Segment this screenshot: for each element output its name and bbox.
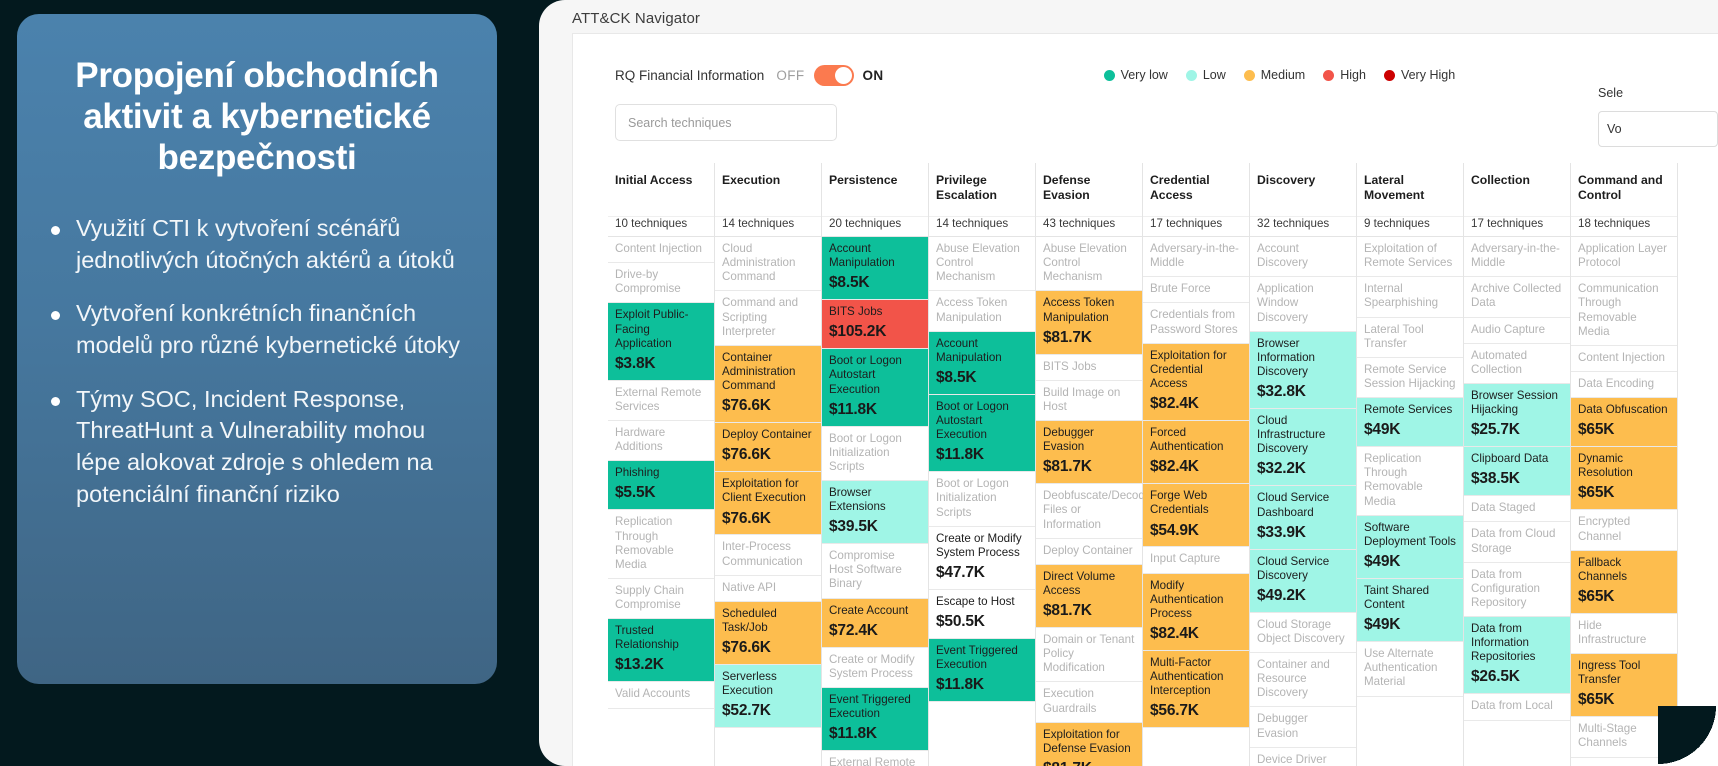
technique-label: Serverless Execution xyxy=(722,670,777,697)
list-item: Využití CTI k vytvoření scénářů jednotli… xyxy=(51,213,471,276)
technique-value: $65K xyxy=(1578,484,1670,503)
presentation-slide: Propojení obchodních aktivit a kyberneti… xyxy=(17,14,497,684)
technique-value: $39.5K xyxy=(829,518,921,537)
technique-label: Browser Session Hijacking xyxy=(1471,389,1558,416)
technique-cell[interactable]: Cloud Administration Command xyxy=(715,237,821,291)
technique-label: Hide Infrastructure xyxy=(1578,619,1646,646)
technique-label: Boot or Logon Autostart Execution xyxy=(936,400,1009,441)
screen: Propojení obchodních aktivit a kyberneti… xyxy=(0,0,1718,766)
technique-cell[interactable]: Build Image on Host xyxy=(1036,381,1142,421)
slide-bullet-list: Využití CTI k vytvoření scénářů jednotli… xyxy=(43,213,471,511)
technique-cell[interactable]: Boot or Logon Autostart Execution$11.8K xyxy=(822,349,928,426)
technique-cell[interactable]: Cloud Storage Object Discovery xyxy=(1250,613,1356,653)
technique-count: 20 techniques xyxy=(822,217,928,237)
toggle-label: RQ Financial Information xyxy=(615,68,764,83)
technique-label: Drive-by Compromise xyxy=(615,268,681,295)
technique-label: Deobfuscate/Decode Files or Information xyxy=(1043,489,1151,530)
technique-cell[interactable]: BITS Jobs xyxy=(1036,355,1142,381)
technique-label: Deploy Container xyxy=(722,428,812,441)
technique-cell[interactable]: Modify Authentication Process$82.4K xyxy=(1143,574,1249,651)
technique-cell[interactable]: Compromise Host Software Binary xyxy=(822,544,928,598)
tactic-column: Initial Access10 techniquesContent Injec… xyxy=(608,163,715,766)
search-placeholder: Search techniques xyxy=(628,116,732,130)
toggle-on-label: ON xyxy=(863,68,884,83)
technique-cell[interactable]: Browser Information Discovery$32.8K xyxy=(1250,332,1356,409)
technique-label: Multi-Factor Authentication Interception xyxy=(1150,656,1223,697)
legend-label: Medium xyxy=(1261,68,1305,82)
technique-cell[interactable]: Remote Services$49K xyxy=(1357,398,1463,447)
technique-value: $8.5K xyxy=(936,369,1028,388)
technique-label: Dynamic Resolution xyxy=(1578,452,1633,479)
technique-cell[interactable]: Deploy Container xyxy=(1036,539,1142,565)
technique-cell[interactable]: Hide Infrastructure xyxy=(1571,614,1677,654)
technique-cell[interactable]: External Remote Services xyxy=(608,381,714,421)
technique-label: Event Triggered Execution xyxy=(829,693,911,720)
technique-label: Domain or Tenant Policy Modification xyxy=(1043,633,1134,674)
technique-cell[interactable]: Hardware Additions xyxy=(608,421,714,461)
technique-cell[interactable]: Account Discovery xyxy=(1250,237,1356,277)
technique-label: Remote Service Session Hijacking xyxy=(1364,363,1456,390)
technique-cell[interactable]: Data Encoding xyxy=(1571,372,1677,398)
technique-cell[interactable]: Cloud Infrastructure Discovery$32.2K xyxy=(1250,409,1356,486)
technique-cell[interactable]: Replication Through Removable Media xyxy=(1357,447,1463,516)
technique-label: Taint Shared Content xyxy=(1364,584,1429,611)
technique-label: Hardware Additions xyxy=(615,426,665,453)
technique-value: $11.8K xyxy=(936,676,1028,695)
bullet-dot-icon xyxy=(51,397,60,406)
technique-value: $81.7K xyxy=(1043,760,1135,766)
technique-label: Create or Modify System Process xyxy=(936,532,1022,559)
technique-label: Debugger Evasion xyxy=(1257,712,1308,739)
technique-count: 14 techniques xyxy=(715,217,821,237)
technique-cell[interactable]: Lateral Tool Transfer xyxy=(1357,318,1463,358)
technique-count: 9 techniques xyxy=(1357,217,1463,237)
technique-value: $5.5K xyxy=(615,484,707,503)
app-title: ATT&CK Navigator xyxy=(539,0,1718,27)
technique-cell[interactable]: Execution Guardrails xyxy=(1036,682,1142,722)
technique-value: $49K xyxy=(1364,553,1456,572)
technique-label: Account Discovery xyxy=(1257,242,1308,269)
technique-label: Exploitation for Client Execution xyxy=(722,477,806,504)
technique-cell[interactable]: Container Administration Command$76.6K xyxy=(715,346,821,423)
technique-label: Encrypted Channel xyxy=(1578,515,1630,542)
technique-value: $65K xyxy=(1578,421,1670,440)
technique-cell[interactable]: Dynamic Resolution$65K xyxy=(1571,447,1677,510)
legend-item-very-high: Very High xyxy=(1384,68,1455,82)
technique-label: Exploitation for Defense Evasion xyxy=(1043,728,1131,755)
technique-cell[interactable]: Deploy Container$76.6K xyxy=(715,423,821,472)
technique-label: Cloud Administration Command xyxy=(722,242,795,283)
technique-value: $52.7K xyxy=(722,702,814,721)
tactic-column: Lateral Movement9 techniquesExploitation… xyxy=(1357,163,1464,766)
technique-count: 43 techniques xyxy=(1036,217,1142,237)
tactic-column-header[interactable]: Command and Control xyxy=(1571,163,1677,217)
technique-value: $76.6K xyxy=(722,397,814,416)
technique-value: $11.8K xyxy=(829,725,921,744)
technique-cell[interactable]: Forge Web Credentials$54.9K xyxy=(1143,484,1249,547)
technique-label: BITS Jobs xyxy=(1043,360,1096,373)
technique-cell[interactable]: Clipboard Data$38.5K xyxy=(1464,447,1570,496)
legend-label: Low xyxy=(1203,68,1226,82)
technique-label: Exploit Public-Facing Application xyxy=(615,308,688,349)
technique-label: Browser Extensions xyxy=(829,486,886,513)
technique-label: Application Layer Protocol xyxy=(1578,242,1667,269)
tactic-column: Collection17 techniquesAdversary-in-the-… xyxy=(1464,163,1571,766)
technique-cell[interactable]: Adversary-in-the-Middle xyxy=(1143,237,1249,277)
technique-value: $3.8K xyxy=(615,355,707,374)
technique-label: External Remote Services xyxy=(615,386,701,413)
technique-cell[interactable]: Automated Collection xyxy=(1464,344,1570,384)
technique-label: Inter-Process Communication xyxy=(722,540,803,567)
technique-label: Command and Scripting Interpreter xyxy=(722,296,798,337)
technique-value: $49K xyxy=(1364,616,1456,635)
toolbar: RQ Financial Information OFF ON Very low… xyxy=(573,34,1718,80)
technique-label: Automated Collection xyxy=(1471,349,1527,376)
selection-dropdown[interactable]: Vo xyxy=(1598,111,1718,147)
tactic-column-header[interactable]: Privilege Escalation xyxy=(929,163,1035,217)
technique-cell[interactable]: Access Token Manipulation$81.7K xyxy=(1036,291,1142,354)
technique-value: $32.8K xyxy=(1257,383,1349,402)
technique-label: Exploitation for Credential Access xyxy=(1150,349,1227,390)
technique-value: $76.6K xyxy=(722,639,814,658)
technique-value: $76.6K xyxy=(722,446,814,465)
technique-count: 10 techniques xyxy=(608,217,714,237)
selection-title: Sele xyxy=(1598,86,1718,100)
technique-value: $65K xyxy=(1578,691,1670,710)
technique-label: Container and Resource Discovery xyxy=(1257,658,1330,699)
technique-label: Exploitation of Remote Services xyxy=(1364,242,1452,269)
technique-cell[interactable]: Content Injection xyxy=(608,237,714,263)
technique-label: Input Capture xyxy=(1150,552,1220,565)
technique-value: $25.7K xyxy=(1471,421,1563,440)
technique-cell[interactable]: Encrypted Channel xyxy=(1571,510,1677,550)
search-input[interactable]: Search techniques xyxy=(615,104,837,141)
legend-item-very-low: Very low xyxy=(1104,68,1168,82)
technique-label: Escape to Host xyxy=(936,595,1015,608)
technique-cell[interactable]: Multi-Factor Authentication Interception… xyxy=(1143,651,1249,728)
technique-label: Browser Information Discovery xyxy=(1257,337,1315,378)
technique-label: Internal Spearphishing xyxy=(1364,282,1438,309)
technique-label: Data from Configuration Repository xyxy=(1471,568,1540,609)
technique-label: Data from Cloud Storage xyxy=(1471,527,1555,554)
technique-cell[interactable]: Taint Shared Content$49K xyxy=(1357,579,1463,642)
legend-dot-icon xyxy=(1384,70,1395,81)
technique-label: Direct Volume Access xyxy=(1043,570,1115,597)
tactic-column-header[interactable]: Lateral Movement xyxy=(1357,163,1463,217)
technique-label: Phishing xyxy=(615,466,659,479)
technique-cell[interactable]: Exploitation for Client Execution$76.6K xyxy=(715,472,821,535)
technique-label: Forced Authentication xyxy=(1150,426,1223,453)
technique-cell[interactable]: Data Staged xyxy=(1464,496,1570,522)
technique-cell[interactable]: Credentials from Password Stores xyxy=(1143,303,1249,343)
technique-cell[interactable]: Archive Collected Data xyxy=(1464,277,1570,317)
legend-dot-icon xyxy=(1244,70,1255,81)
technique-cell[interactable]: Input Capture xyxy=(1143,547,1249,573)
technique-count: 32 techniques xyxy=(1250,217,1356,237)
technique-label: Forge Web Credentials xyxy=(1150,489,1209,516)
technique-label: Multi-Stage Channels xyxy=(1578,722,1637,749)
technique-cell[interactable]: Create or Modify System Process xyxy=(822,648,928,688)
technique-label: Device Driver Discovery xyxy=(1257,753,1327,766)
technique-cell[interactable]: Adversary-in-the-Middle xyxy=(1464,237,1570,277)
technique-label: Modify Authentication Process xyxy=(1150,579,1223,620)
technique-label: Create Account xyxy=(829,604,908,617)
technique-label: Cloud Service Discovery xyxy=(1257,555,1329,582)
technique-label: Brute Force xyxy=(1150,282,1211,295)
legend-label: High xyxy=(1340,68,1366,82)
technique-cell[interactable]: Domain or Tenant Policy Modification xyxy=(1036,628,1142,682)
technique-value: $81.7K xyxy=(1043,329,1135,348)
technique-cell[interactable]: Audio Capture xyxy=(1464,318,1570,344)
tactic-column-header[interactable]: Persistence xyxy=(822,163,928,217)
tactic-column: Command and Control18 techniquesApplicat… xyxy=(1571,163,1678,766)
technique-label: Adversary-in-the-Middle xyxy=(1471,242,1560,269)
legend-dot-icon xyxy=(1104,70,1115,81)
technique-label: Execution Guardrails xyxy=(1043,687,1096,714)
list-item: Vytvoření konkrétních finančních modelů … xyxy=(51,298,471,361)
technique-cell[interactable]: Browser Extensions$39.5K xyxy=(822,481,928,544)
rq-financial-information-toggle[interactable] xyxy=(814,65,854,86)
attack-matrix[interactable]: Initial Access10 techniquesContent Injec… xyxy=(608,163,1718,766)
technique-label: Abuse Elevation Control Mechanism xyxy=(1043,242,1127,283)
technique-label: Boot or Logon Autostart Execution xyxy=(829,354,902,395)
technique-label: Credentials from Password Stores xyxy=(1150,308,1238,335)
list-item: Týmy SOC, Incident Response, ThreatHunt … xyxy=(51,384,471,511)
technique-cell[interactable]: Exploitation for Defense Evasion$81.7K xyxy=(1036,723,1142,766)
technique-cell[interactable]: Data from Configuration Repository xyxy=(1464,563,1570,617)
technique-label: Remote Services xyxy=(1364,403,1452,416)
technique-cell[interactable]: Access Token Manipulation xyxy=(929,291,1035,331)
legend-label: Very High xyxy=(1401,68,1455,82)
technique-cell[interactable]: Replication Through Removable Media xyxy=(608,510,714,579)
technique-value: $11.8K xyxy=(829,401,921,420)
technique-cell[interactable]: Cloud Service Dashboard$33.9K xyxy=(1250,486,1356,549)
tactic-column: Credential Access17 techniquesAdversary-… xyxy=(1143,163,1250,766)
technique-cell[interactable]: Exploitation of Remote Services xyxy=(1357,237,1463,277)
technique-value: $56.7K xyxy=(1150,702,1242,721)
severity-legend: Very low Low Medium High xyxy=(1104,68,1456,82)
technique-value: $105.2K xyxy=(829,323,921,342)
technique-count: 18 techniques xyxy=(1571,217,1677,237)
tactic-column-header[interactable]: Discovery xyxy=(1250,163,1356,217)
technique-cell[interactable]: Event Triggered Execution$11.8K xyxy=(929,639,1035,702)
legend-item-medium: Medium xyxy=(1244,68,1305,82)
legend-dot-icon xyxy=(1323,70,1334,81)
technique-cell[interactable]: Exploit Public-Facing Application$3.8K xyxy=(608,303,714,380)
window-corner-mask xyxy=(1658,706,1718,766)
technique-label: Clipboard Data xyxy=(1471,452,1548,465)
tactic-column: Persistence20 techniquesAccount Manipula… xyxy=(822,163,929,766)
technique-cell[interactable]: Brute Force xyxy=(1143,277,1249,303)
technique-label: Data from Local xyxy=(1471,699,1553,712)
technique-cell[interactable]: Create or Modify System Process$47.7K xyxy=(929,527,1035,590)
technique-cell[interactable]: Fallback Channels$65K xyxy=(1571,551,1677,614)
technique-cell[interactable]: Supply Chain Compromise xyxy=(608,579,714,619)
technique-label: Fallback Channels xyxy=(1578,556,1627,583)
technique-label: Software Deployment Tools xyxy=(1364,521,1456,548)
technique-cell[interactable]: Trusted Relationship$13.2K xyxy=(608,619,714,682)
technique-label: Archive Collected Data xyxy=(1471,282,1561,309)
technique-cell[interactable]: Communication Through Removable Media xyxy=(1571,277,1677,346)
tactic-column: Execution14 techniquesCloud Administrati… xyxy=(715,163,822,766)
technique-cell[interactable]: Direct Volume Access$81.7K xyxy=(1036,565,1142,628)
selection-panel: Sele Vo xyxy=(1598,86,1718,147)
technique-cell[interactable]: Serverless Execution$52.7K xyxy=(715,665,821,728)
technique-cell[interactable]: Data Obfuscation$65K xyxy=(1571,398,1677,447)
technique-value: $82.4K xyxy=(1150,458,1242,477)
technique-label: Container Administration Command xyxy=(722,351,795,392)
technique-label: Supply Chain Compromise xyxy=(615,584,684,611)
technique-label: Data Obfuscation xyxy=(1578,403,1668,416)
technique-label: Access Token Manipulation xyxy=(936,296,1007,323)
technique-label: Cloud Infrastructure Discovery xyxy=(1257,414,1325,455)
technique-cell[interactable]: Event Triggered Execution$11.8K xyxy=(822,688,928,751)
technique-cell[interactable]: Command and Scripting Interpreter xyxy=(715,291,821,345)
technique-cell[interactable]: BITS Jobs$105.2K xyxy=(822,300,928,349)
technique-cell[interactable]: Device Driver Discovery xyxy=(1250,748,1356,766)
technique-count: 17 techniques xyxy=(1464,217,1570,237)
technique-label: Adversary-in-the-Middle xyxy=(1150,242,1239,269)
technique-label: Boot or Logon Initialization Scripts xyxy=(936,477,1009,518)
technique-label: Abuse Elevation Control Mechanism xyxy=(936,242,1020,283)
tactic-column-header[interactable]: Initial Access xyxy=(608,163,714,217)
technique-cell[interactable]: Exploitation for Credential Access$82.4K xyxy=(1143,344,1249,421)
bullet-text: Využití CTI k vytvoření scénářů jednotli… xyxy=(76,213,471,276)
technique-label: Data Encoding xyxy=(1578,377,1654,390)
technique-value: $72.4K xyxy=(829,622,921,641)
technique-cell[interactable]: Data from Local xyxy=(1464,694,1570,720)
legend-item-high: High xyxy=(1323,68,1366,82)
technique-value: $49K xyxy=(1364,421,1456,440)
technique-cell[interactable]: Account Manipulation$8.5K xyxy=(822,237,928,300)
technique-label: Account Manipulation xyxy=(936,337,1002,364)
toggle-off-label: OFF xyxy=(776,68,804,83)
technique-cell[interactable]: Data from Cloud Storage xyxy=(1464,522,1570,562)
technique-value: $54.9K xyxy=(1150,522,1242,541)
technique-label: Data from Information Repositories xyxy=(1471,622,1535,663)
technique-cell[interactable]: Native API xyxy=(715,576,821,602)
technique-cell[interactable]: Drive-by Compromise xyxy=(608,263,714,303)
technique-value: $76.6K xyxy=(722,510,814,529)
technique-label: Compromise Host Software Binary xyxy=(829,549,902,590)
bullet-text: Týmy SOC, Incident Response, ThreatHunt … xyxy=(76,384,471,511)
tactic-column-header[interactable]: Credential Access xyxy=(1143,163,1249,217)
technique-label: Cloud Service Dashboard xyxy=(1257,491,1329,518)
technique-label: Build Image on Host xyxy=(1043,386,1120,413)
technique-label: Content Injection xyxy=(615,242,702,255)
tactic-column-header[interactable]: Execution xyxy=(715,163,821,217)
technique-cell[interactable]: Forced Authentication$82.4K xyxy=(1143,421,1249,484)
technique-label: Content Injection xyxy=(1578,351,1665,364)
technique-value: $38.5K xyxy=(1471,470,1563,489)
technique-label: Boot or Logon Initialization Scripts xyxy=(829,432,902,473)
technique-cell[interactable]: Account Manipulation$8.5K xyxy=(929,332,1035,395)
legend-item-low: Low xyxy=(1186,68,1226,82)
technique-label: Scheduled Task/Job xyxy=(722,607,777,634)
technique-label: Cloud Storage Object Discovery xyxy=(1257,618,1345,645)
technique-label: Trusted Relationship xyxy=(615,624,679,651)
technique-value: $81.7K xyxy=(1043,458,1135,477)
technique-label: Create or Modify System Process xyxy=(829,653,915,680)
technique-value: $33.9K xyxy=(1257,524,1349,543)
technique-label: Debugger Evasion xyxy=(1043,426,1094,453)
tactic-column: Defense Evasion43 techniquesAbuse Elevat… xyxy=(1036,163,1143,766)
technique-cell[interactable]: Abuse Elevation Control Mechanism xyxy=(929,237,1035,291)
technique-label: Application Window Discovery xyxy=(1257,282,1314,323)
technique-value: $65K xyxy=(1578,588,1670,607)
technique-cell[interactable]: Debugger Evasion$81.7K xyxy=(1036,421,1142,484)
tactic-column: Privilege Escalation14 techniquesAbuse E… xyxy=(929,163,1036,766)
technique-label: Valid Accounts xyxy=(615,687,690,700)
technique-cell[interactable]: Escape to Host$50.5K xyxy=(929,590,1035,639)
tactic-column: Discovery32 techniquesAccount DiscoveryA… xyxy=(1250,163,1357,766)
technique-label: Audio Capture xyxy=(1471,323,1545,336)
technique-cell[interactable]: Scheduled Task/Job$76.6K xyxy=(715,602,821,665)
technique-cell[interactable]: Valid Accounts xyxy=(608,682,714,708)
technique-label: BITS Jobs xyxy=(829,305,882,318)
technique-cell[interactable]: Abuse Elevation Control Mechanism xyxy=(1036,237,1142,291)
technique-value: $32.2K xyxy=(1257,460,1349,479)
technique-label: Communication Through Removable Media xyxy=(1578,282,1659,337)
technique-cell[interactable]: Deobfuscate/Decode Files or Information xyxy=(1036,484,1142,538)
technique-label: Replication Through Removable Media xyxy=(615,515,674,570)
attack-navigator-window: ATT&CK Navigator RQ Financial Informatio… xyxy=(539,0,1718,766)
technique-cell[interactable]: Boot or Logon Autostart Execution$11.8K xyxy=(929,395,1035,472)
technique-cell[interactable]: Boot or Logon Initialization Scripts xyxy=(929,472,1035,526)
technique-cell[interactable]: Inter-Process Communication xyxy=(715,535,821,575)
technique-label: Access Token Manipulation xyxy=(1043,296,1114,323)
technique-value: $13.2K xyxy=(615,656,707,675)
technique-label: Native API xyxy=(722,581,776,594)
technique-value: $8.5K xyxy=(829,274,921,293)
technique-label: Account Manipulation xyxy=(829,242,895,269)
technique-cell[interactable]: Application Layer Protocol xyxy=(1571,237,1677,277)
technique-cell[interactable]: Use Alternate Authentication Material xyxy=(1357,642,1463,696)
technique-cell[interactable]: Create Account$72.4K xyxy=(822,599,928,648)
tactic-column-header[interactable]: Defense Evasion xyxy=(1036,163,1142,217)
technique-cell[interactable]: External Remote xyxy=(822,751,928,766)
technique-count: 14 techniques xyxy=(929,217,1035,237)
technique-cell[interactable]: Container and Resource Discovery xyxy=(1250,653,1356,707)
technique-cell[interactable]: Browser Session Hijacking$25.7K xyxy=(1464,384,1570,447)
technique-value: $11.8K xyxy=(936,446,1028,465)
legend-dot-icon xyxy=(1186,70,1197,81)
technique-cell[interactable]: Data from Information Repositories$26.5K xyxy=(1464,617,1570,694)
tactic-column-header[interactable]: Collection xyxy=(1464,163,1570,217)
app-body: RQ Financial Information OFF ON Very low… xyxy=(572,33,1718,766)
technique-label: Use Alternate Authentication Material xyxy=(1364,647,1437,688)
slide-title: Propojení obchodních aktivit a kyberneti… xyxy=(43,44,471,179)
technique-cell[interactable]: Phishing$5.5K xyxy=(608,461,714,510)
technique-cell[interactable]: Remote Service Session Hijacking xyxy=(1357,358,1463,398)
bullet-text: Vytvoření konkrétních finančních modelů … xyxy=(76,298,471,361)
bullet-dot-icon xyxy=(51,226,60,235)
technique-label: Ingress Tool Transfer xyxy=(1578,659,1640,686)
bullet-dot-icon xyxy=(51,311,60,320)
technique-cell[interactable]: Application Window Discovery xyxy=(1250,277,1356,331)
technique-cell[interactable]: Internal Spearphishing xyxy=(1357,277,1463,317)
technique-cell[interactable]: Content Injection xyxy=(1571,346,1677,372)
technique-cell[interactable]: Debugger Evasion xyxy=(1250,707,1356,747)
technique-cell[interactable]: Software Deployment Tools$49K xyxy=(1357,516,1463,579)
technique-label: Lateral Tool Transfer xyxy=(1364,323,1424,350)
technique-label: Replication Through Removable Media xyxy=(1364,452,1423,507)
technique-label: Deploy Container xyxy=(1043,544,1133,557)
technique-value: $49.2K xyxy=(1257,587,1349,606)
technique-cell[interactable]: Cloud Service Discovery$49.2K xyxy=(1250,550,1356,613)
technique-cell[interactable]: Boot or Logon Initialization Scripts xyxy=(822,427,928,481)
technique-value: $81.7K xyxy=(1043,602,1135,621)
